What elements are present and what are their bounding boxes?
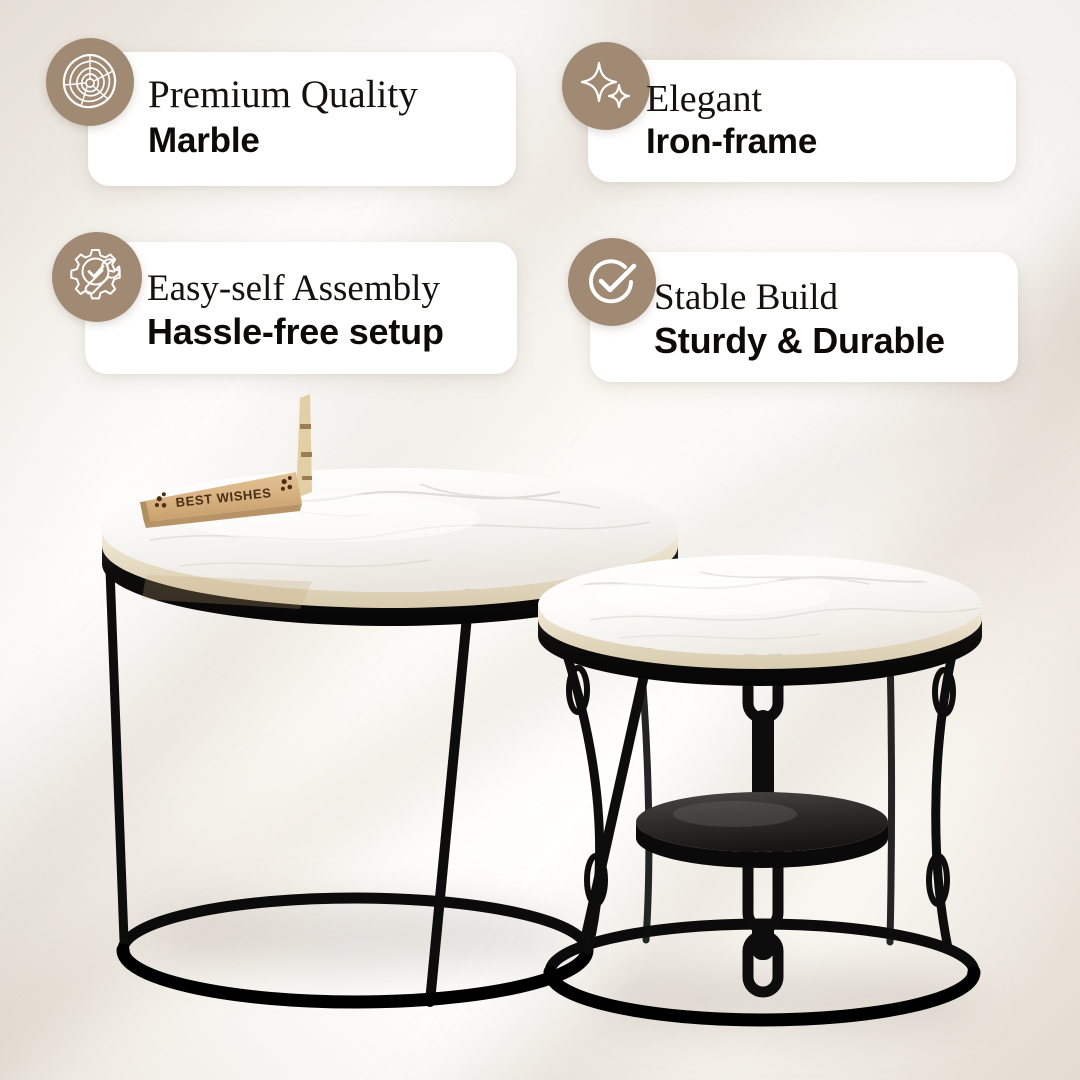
product-feature-image: BEST WISHES [0, 0, 1080, 1080]
badge-title: Elegant [646, 80, 817, 120]
badge-subtitle: Sturdy & Durable [654, 322, 945, 359]
feature-badge-list: Premium Quality Marble Elegant Iron-fram… [0, 0, 1080, 1080]
badge-text-group: Stable Build Sturdy & Durable [654, 262, 945, 376]
badge-subtitle: Marble [148, 123, 418, 159]
tree-rings-icon [46, 38, 134, 126]
badge-text-group: Elegant Iron-frame [646, 62, 817, 178]
badge-subtitle: Iron-frame [646, 124, 817, 160]
gear-wrench-check-icon [52, 232, 142, 322]
badge-subtitle: Hassle-free setup [147, 313, 444, 350]
circle-check-icon [568, 238, 656, 326]
badge-title: Stable Build [654, 279, 945, 317]
sparkle-icon [562, 42, 650, 130]
badge-text-group: Easy-self Assembly Hassle-free setup [147, 252, 444, 368]
badge-title: Easy-self Assembly [147, 270, 444, 308]
badge-title: Premium Quality [148, 75, 418, 116]
badge-text-group: Premium Quality Marble [148, 58, 418, 176]
